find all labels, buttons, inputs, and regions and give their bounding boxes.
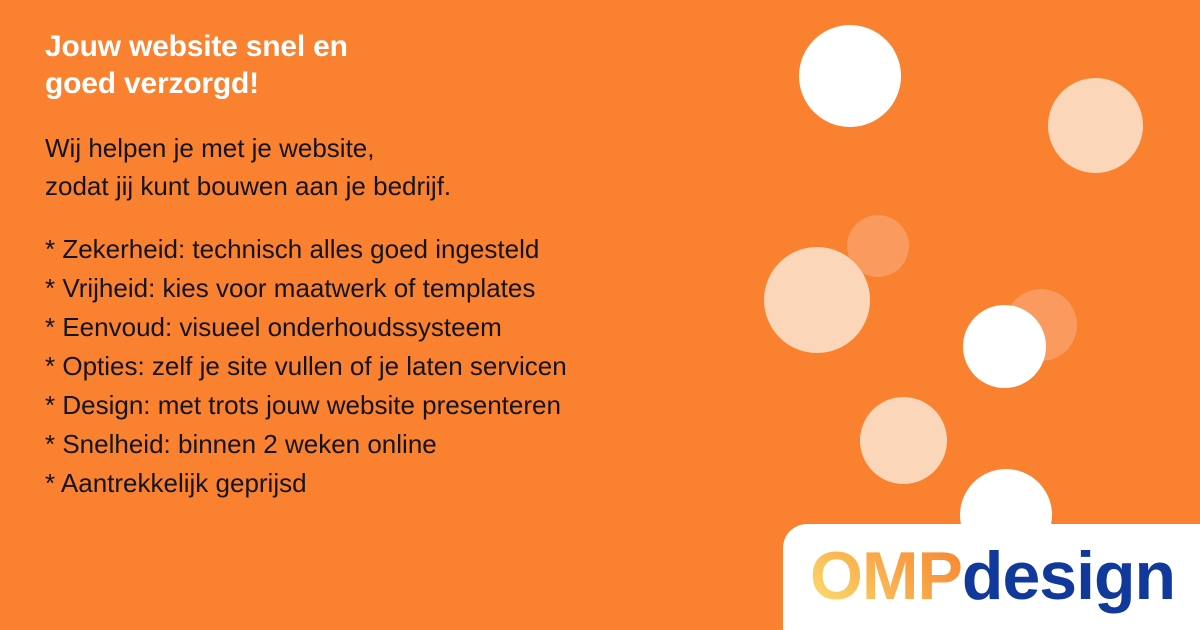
logo-text-design: design	[962, 538, 1175, 614]
feature-list: * Zekerheid: technisch alles goed ingest…	[45, 205, 745, 503]
circle-peach-lower	[860, 397, 947, 484]
intro-paragraph: Wij helpen je met je website, zodat jij …	[45, 102, 745, 205]
logo-card: OMPdesign	[783, 524, 1200, 630]
list-item: * Vrijheid: kies voor maatwerk of templa…	[45, 269, 655, 308]
list-item: * Eenvoud: visueel onderhoudssysteem	[45, 308, 655, 347]
promo-banner: Jouw website snel en goed verzorgd! Wij …	[0, 0, 1200, 630]
circle-white-mid	[963, 305, 1046, 388]
page-title: Jouw website snel en goed verzorgd!	[45, 28, 745, 102]
logo-text-omp: OMP	[810, 538, 962, 614]
list-item: * Aantrekkelijk geprijsd	[45, 464, 655, 503]
circle-peach-top-right	[1048, 78, 1143, 173]
circle-white-top	[799, 25, 901, 127]
list-item: * Snelheid: binnen 2 weken online	[45, 425, 655, 464]
brand-logo: OMPdesign	[810, 537, 1175, 615]
list-item: * Opties: zelf je site vullen of je late…	[45, 347, 655, 386]
list-item: * Design: met trots jouw website present…	[45, 386, 655, 425]
marketing-copy: Jouw website snel en goed verzorgd! Wij …	[45, 28, 745, 503]
circle-peach-mid-left	[764, 247, 870, 353]
list-item: * Zekerheid: technisch alles goed ingest…	[45, 230, 655, 269]
